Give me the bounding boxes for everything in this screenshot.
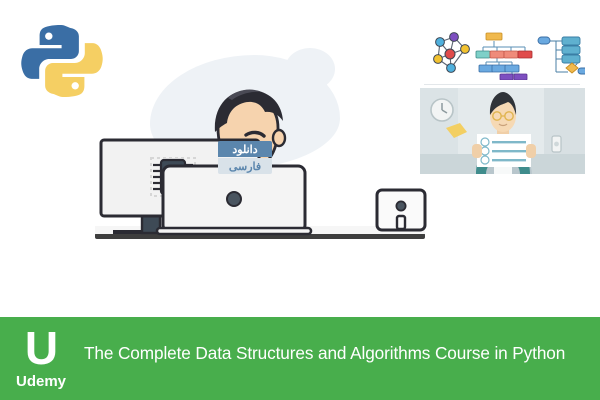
network-node-2 bbox=[450, 33, 459, 42]
character-ear bbox=[273, 130, 285, 146]
person-holding-checklist-panel bbox=[420, 88, 585, 174]
device-dial bbox=[554, 142, 559, 147]
network-node-6 bbox=[447, 64, 456, 73]
tree-node-4 bbox=[518, 51, 532, 58]
checklist-line-2 bbox=[492, 150, 526, 152]
course-thumbnail-canvas: دانلود فارسی bbox=[0, 0, 600, 400]
tree-node-6 bbox=[492, 65, 506, 72]
network-node-5 bbox=[434, 55, 443, 64]
udemy-logo-wordmark: Udemy bbox=[16, 373, 66, 390]
flowchart-node-2 bbox=[562, 46, 580, 54]
tree-node-9 bbox=[514, 74, 527, 80]
udemy-course-banner: U Udemy The Complete Data Structures and… bbox=[0, 317, 600, 400]
laptop bbox=[157, 166, 311, 234]
site-watermark: دانلود فارسی bbox=[218, 141, 272, 175]
laptop-base bbox=[157, 228, 311, 234]
photo-panel-svg bbox=[420, 88, 585, 174]
tree-node-7 bbox=[505, 65, 519, 72]
flowchart-node-1 bbox=[562, 37, 580, 45]
network-node-4 bbox=[461, 45, 470, 54]
network-graph-icon bbox=[434, 33, 470, 73]
flowchart-node-start bbox=[538, 37, 550, 44]
wall-clock-icon bbox=[431, 99, 453, 121]
checklist-line-1 bbox=[492, 141, 526, 143]
tree-node-1 bbox=[476, 51, 490, 58]
python-blue-eye bbox=[45, 33, 52, 40]
network-node-3 bbox=[445, 49, 455, 59]
diagram-icons-svg bbox=[420, 28, 585, 80]
diagram-icons-strip bbox=[420, 28, 585, 80]
laptop-logo bbox=[227, 192, 241, 206]
watermark-line-1: دانلود bbox=[218, 141, 272, 157]
tree-node-5 bbox=[479, 65, 493, 72]
tree-root-node bbox=[486, 33, 502, 40]
tree-node-2 bbox=[490, 51, 504, 58]
person-hand-left bbox=[472, 144, 482, 158]
tablet-stand bbox=[397, 216, 405, 229]
checklist-line-3 bbox=[492, 159, 526, 161]
flowchart-node-3 bbox=[562, 55, 580, 63]
udemy-logo-letter: U bbox=[25, 328, 57, 368]
udemy-logo: U Udemy bbox=[0, 328, 78, 390]
wall-device-icon bbox=[552, 136, 561, 152]
flowchart-node-end bbox=[578, 68, 585, 74]
tree-node-3 bbox=[504, 51, 518, 58]
tablet-device bbox=[377, 190, 425, 230]
flowchart-icon bbox=[538, 37, 585, 74]
network-node-1 bbox=[436, 38, 445, 47]
python-yellow-eye bbox=[72, 82, 79, 89]
tablet-camera bbox=[396, 201, 405, 210]
course-title: The Complete Data Structures and Algorit… bbox=[78, 343, 600, 364]
person-hand-right bbox=[526, 144, 536, 158]
tree-node-8 bbox=[500, 74, 513, 80]
watermark-line-2: فارسی bbox=[218, 158, 272, 174]
strip-divider bbox=[424, 84, 580, 85]
tree-hierarchy-icon bbox=[476, 33, 532, 80]
